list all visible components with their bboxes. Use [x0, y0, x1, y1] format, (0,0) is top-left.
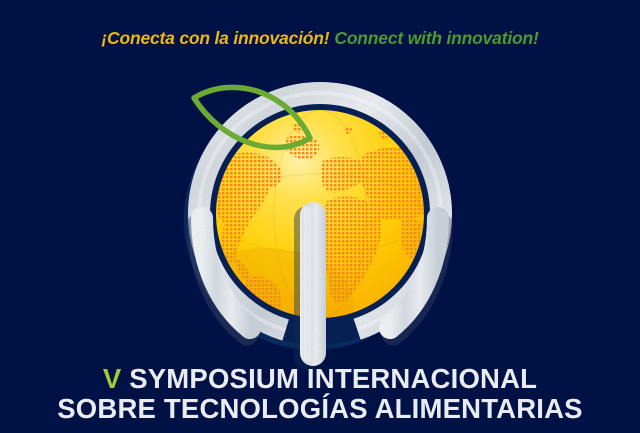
title-line-1-text: SYMPOSIUM INTERNACIONAL [129, 363, 537, 394]
logo-emblem [178, 68, 462, 368]
logo-svg [178, 68, 462, 368]
title-numeral: V [103, 363, 122, 394]
fork-center-tine [294, 202, 326, 370]
tagline-english: Connect with innovation! [334, 28, 538, 48]
title-line-2: SOBRE TECNOLOGÍAS ALIMENTARIAS [0, 394, 640, 424]
tagline-spanish: ¡Conecta con la innovación! [101, 28, 329, 48]
tagline: ¡Conecta con la innovación!Connect with … [0, 28, 640, 49]
title-line-1: V SYMPOSIUM INTERNACIONAL [0, 364, 640, 394]
title-block: V SYMPOSIUM INTERNACIONAL SOBRE TECNOLOG… [0, 364, 640, 424]
poster-canvas: ¡Conecta con la innovación!Connect with … [0, 0, 640, 433]
